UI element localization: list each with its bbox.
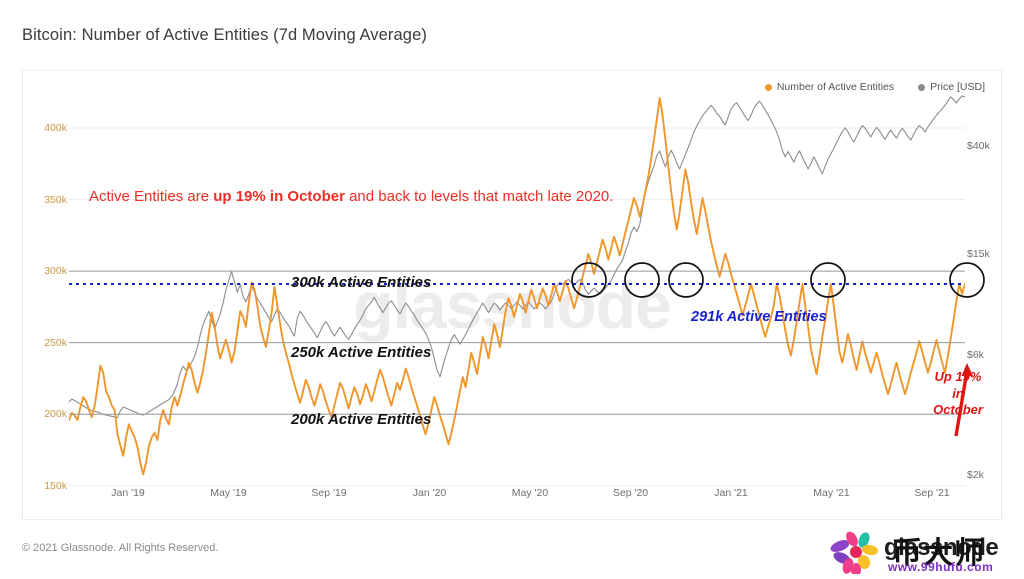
up-in-october-annotation: Up 19% in October: [921, 369, 995, 419]
label-200k-line: 200k Active Entities: [291, 411, 431, 428]
y-left-tick: 200k: [23, 408, 67, 420]
x-tick: Sep '20: [613, 487, 648, 499]
x-tick: May '20: [512, 487, 548, 499]
y-left-tick: 150k: [23, 480, 67, 492]
highlight-circle: [950, 263, 984, 297]
page-title: Bitcoin: Number of Active Entities (7d M…: [22, 26, 427, 45]
up-oct-line2: in: [921, 386, 995, 403]
y-right-tick: $40k: [967, 140, 990, 152]
x-tick: Sep '21: [914, 487, 949, 499]
x-tick: Sep '19: [311, 487, 346, 499]
headline-bold: up 19% in October: [213, 188, 345, 205]
plot-area: [23, 71, 1003, 521]
label-250k-line: 250k Active Entities: [291, 344, 431, 361]
highlight-circle: [625, 263, 659, 297]
highlight-circle: [811, 263, 845, 297]
x-tick: May '21: [813, 487, 849, 499]
pinwheel-logo-icon: [826, 530, 886, 574]
x-tick: Jan '20: [413, 487, 447, 499]
watermark-url-text: www.99hufu.com: [888, 560, 993, 574]
label-300k-line: 300k Active Entities: [291, 274, 431, 291]
brand-watermark: glassnode 币大师 www.99hufu.com: [826, 530, 1016, 574]
chart-svg: [23, 71, 1003, 521]
y-right-tick: $2k: [967, 469, 984, 481]
x-tick: May '19: [210, 487, 246, 499]
up-oct-line3: October: [921, 402, 995, 419]
label-291k-line: 291k Active Entities: [691, 309, 827, 325]
copyright-text: © 2021 Glassnode. All Rights Reserved.: [22, 542, 218, 554]
headline-post: and back to levels that match late 2020.: [345, 188, 614, 205]
x-tick: Jan '19: [111, 487, 145, 499]
y-left-tick: 400k: [23, 122, 67, 134]
x-tick: Jan '21: [714, 487, 748, 499]
highlight-circle: [669, 263, 703, 297]
headline-annotation: Active Entities are up 19% in October an…: [89, 188, 613, 205]
y-left-tick: 350k: [23, 194, 67, 206]
headline-pre: Active Entities are: [89, 188, 213, 205]
y-right-tick: $6k: [967, 349, 984, 361]
y-left-tick: 300k: [23, 265, 67, 277]
y-left-tick: 250k: [23, 337, 67, 349]
up-oct-line1: Up 19%: [921, 369, 995, 386]
chart-card: Number of Active Entities Price [USD] gl…: [22, 70, 1002, 520]
reference-lines: [69, 271, 965, 414]
highlight-circle: [572, 263, 606, 297]
y-right-tick: $15k: [967, 248, 990, 260]
